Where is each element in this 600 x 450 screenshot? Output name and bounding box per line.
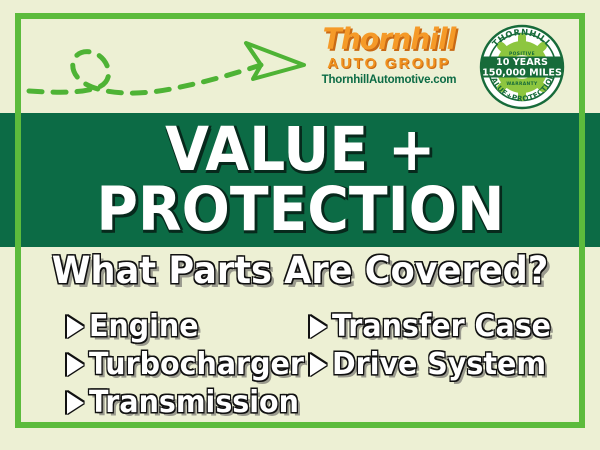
triangle-right-icon <box>310 316 327 338</box>
triangle-right-icon <box>67 316 84 338</box>
logo-wordmark: Thornhill <box>316 25 462 54</box>
dashed-flight-path-arrow <box>21 21 311 113</box>
logo-subtitle: AUTO GROUP <box>314 55 464 72</box>
seal-small-top-text: POSITIVE <box>509 51 535 57</box>
covered-parts-list: Engine Turbocharger Transmission Transfe… <box>21 308 579 420</box>
banner-header: Thornhill AUTO GROUP ThornhillAutomotive… <box>21 19 579 113</box>
part-label: Transmission <box>89 388 299 418</box>
list-item: Drive System <box>310 346 563 384</box>
triangle-right-icon <box>67 354 84 376</box>
list-item: Transmission <box>67 384 315 422</box>
seal-miles-text: 150,000 MILES <box>482 67 562 78</box>
logo-website-url: ThornhillAutomotive.com <box>314 74 464 88</box>
part-label: Turbocharger <box>89 350 304 380</box>
covered-parts-left-column: Engine Turbocharger Transmission <box>67 308 315 422</box>
covered-parts-question: What Parts Are Covered? <box>15 252 585 289</box>
thornhill-logo: Thornhill AUTO GROUP ThornhillAutomotive… <box>314 25 464 88</box>
headline-band <box>0 113 600 247</box>
list-item: Engine <box>67 308 315 346</box>
value-protection-ad-banner: Thornhill AUTO GROUP ThornhillAutomotive… <box>0 0 600 450</box>
seal-small-bottom-text: WARRANTY <box>506 81 538 87</box>
triangle-right-icon <box>310 354 327 376</box>
list-item: Transfer Case <box>310 308 563 346</box>
part-label: Engine <box>89 312 199 342</box>
triangle-right-icon <box>67 392 84 414</box>
part-label: Transfer Case <box>332 312 551 342</box>
warranty-seal-badge: THORNHILL VALUE+PROTECTION POSITIVE WARR… <box>478 23 566 111</box>
covered-parts-right-column: Transfer Case Drive System <box>310 308 563 384</box>
list-item: Turbocharger <box>67 346 315 384</box>
part-label: Drive System <box>332 350 546 380</box>
